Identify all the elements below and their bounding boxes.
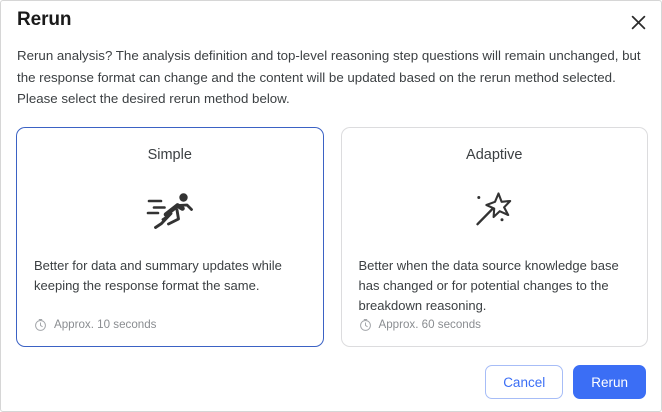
- stopwatch-icon: [359, 318, 372, 331]
- option-card-simple[interactable]: Simple: [16, 127, 324, 347]
- dialog-description: Rerun analysis? The analysis definition …: [17, 45, 649, 110]
- option-duration-label-adaptive: Approx. 60 seconds: [379, 318, 481, 331]
- rerun-dialog: Rerun Rerun analysis? The analysis defin…: [0, 0, 662, 412]
- option-duration-label-simple: Approx. 10 seconds: [54, 318, 156, 331]
- rerun-button[interactable]: Rerun: [573, 365, 646, 399]
- dialog-header: Rerun: [1, 1, 661, 43]
- option-title-adaptive: Adaptive: [342, 147, 648, 163]
- cancel-button[interactable]: Cancel: [485, 365, 563, 399]
- close-button[interactable]: [625, 9, 651, 35]
- stopwatch-icon: [34, 318, 47, 331]
- page-title: Rerun: [17, 9, 71, 31]
- running-person-icon: [17, 184, 323, 236]
- dialog-footer: Cancel Rerun: [485, 365, 646, 399]
- option-duration-simple: Approx. 10 seconds: [34, 318, 156, 331]
- option-title-simple: Simple: [17, 147, 323, 163]
- magic-wand-icon: [342, 184, 648, 236]
- option-description-simple: Better for data and summary updates whil…: [34, 256, 306, 296]
- option-description-adaptive: Better when the data source knowledge ba…: [359, 256, 631, 316]
- option-duration-adaptive: Approx. 60 seconds: [359, 318, 481, 331]
- rerun-method-options: Simple: [16, 127, 648, 347]
- close-icon: [631, 15, 646, 30]
- option-card-adaptive[interactable]: Adaptive Better when the data source kno…: [341, 127, 649, 347]
